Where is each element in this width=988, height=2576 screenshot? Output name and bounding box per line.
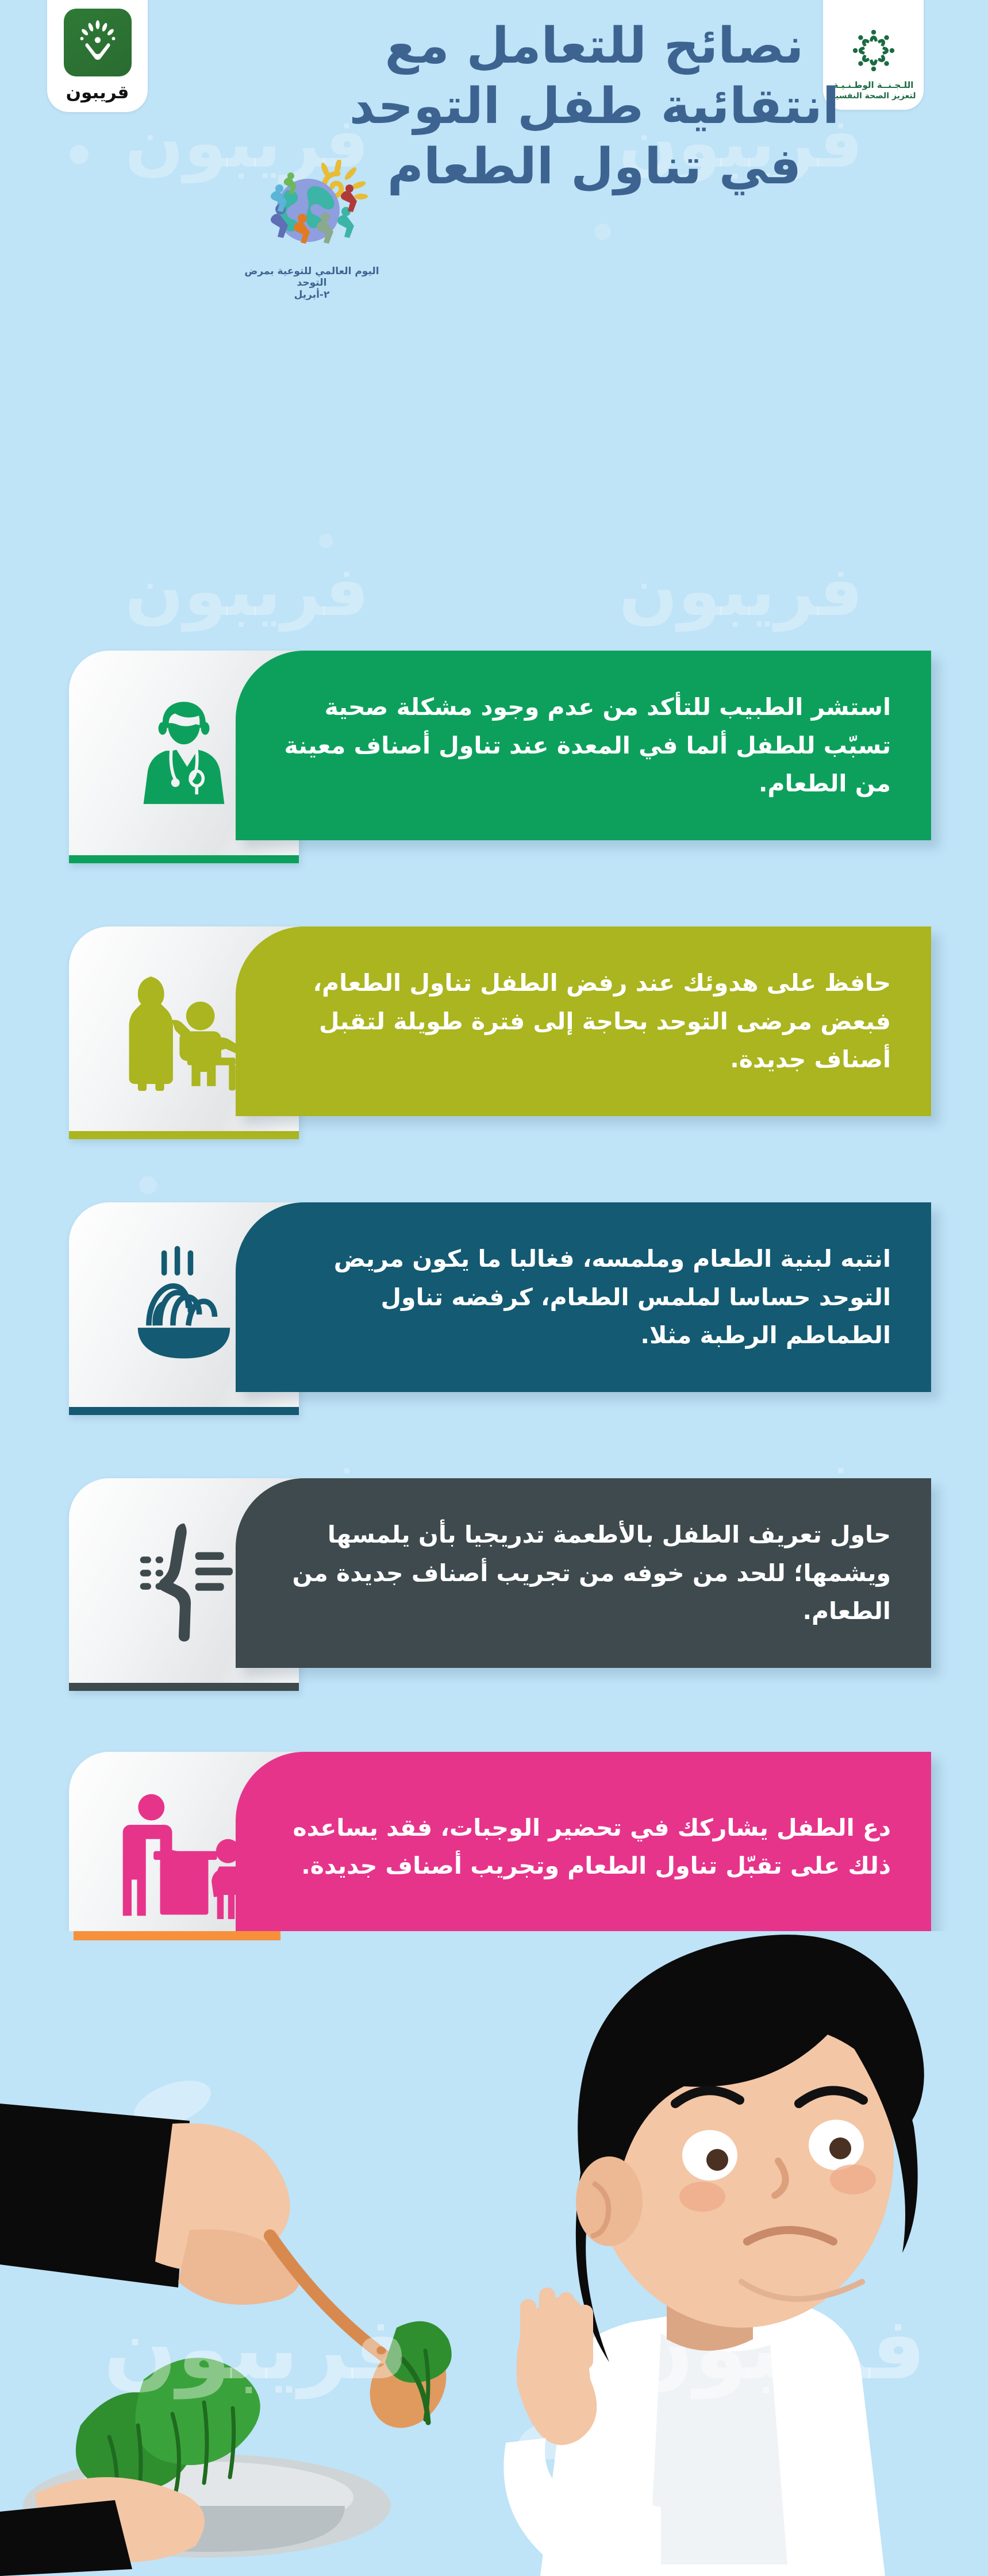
child-refusing-broccoli-illustration: فريبون فريبون bbox=[0, 1931, 988, 2576]
page-header: اللـجـنــة الوطـنـيـة لتعزيز الصحة النفس… bbox=[0, 0, 988, 322]
tip-card-3-accent-bar bbox=[69, 1407, 299, 1415]
qaribon-name: قريبون bbox=[66, 82, 129, 103]
tip-card-4[interactable]: حاول تعريف الطفل بالأطعمة تدريجيا بأن يل… bbox=[69, 1478, 931, 1691]
background-watermark: فريبونفريبون bbox=[0, 552, 988, 632]
tip-card-1-text: استشر الطبيب للتأكد من عدم وجود مشكلة صح… bbox=[270, 688, 891, 802]
parent-and-child-icon bbox=[118, 957, 250, 1101]
tip-card-1-accent-bar bbox=[69, 855, 299, 863]
infographic-page: فريبونفريبون فريبونفريبون فريبونفريبون ف… bbox=[0, 0, 988, 2576]
tip-card-5-body: دع الطفل يشاركك في تحضير الوجبات، فقد يس… bbox=[236, 1752, 931, 1941]
tip-card-1-body: استشر الطبيب للتأكد من عدم وجود مشكلة صح… bbox=[236, 651, 931, 840]
tip-card-4-accent-bar bbox=[69, 1683, 299, 1691]
world-autism-day-logo: اليوم العالمي للتوعية بمرض التوحد ٢-أبري… bbox=[236, 160, 388, 301]
nose-smell-icon bbox=[118, 1509, 250, 1652]
qaribon-logo: قريبون bbox=[47, 0, 148, 112]
tip-card-4-body: حاول تعريف الطفل بالأطعمة تدريجيا بأن يل… bbox=[236, 1478, 931, 1668]
tip-card-2-body: حافظ على هدوئك عند رفض الطفل تناول الطعا… bbox=[236, 926, 931, 1116]
page-title-line-2: انتقائية طفل التوحد bbox=[261, 76, 928, 137]
tip-card-1[interactable]: استشر الطبيب للتأكد من عدم وجود مشكلة صح… bbox=[69, 651, 931, 863]
tip-card-2[interactable]: حافظ على هدوئك عند رفض الطفل تناول الطعا… bbox=[69, 926, 931, 1139]
page-title-line-1: نصائح للتعامل مع bbox=[261, 16, 928, 76]
tip-card-2-text: حافظ على هدوئك عند رفض الطفل تناول الطعا… bbox=[270, 964, 891, 1078]
autism-day-line-1: اليوم العالمي للتوعية بمرض التوحد bbox=[236, 266, 388, 289]
globe-with-children-icon bbox=[252, 160, 372, 263]
tip-card-3-text: انتبه لبنية الطعام وملمسه، فغالبا ما يكو… bbox=[270, 1240, 891, 1354]
qaribon-tile bbox=[64, 9, 132, 76]
cooking-together-icon bbox=[118, 1782, 250, 1926]
tip-card-5-text: دع الطفل يشاركك في تحضير الوجبات، فقد يس… bbox=[270, 1809, 891, 1885]
tip-card-3[interactable]: انتبه لبنية الطعام وملمسه، فغالبا ما يكو… bbox=[69, 1202, 931, 1415]
tip-card-3-body: انتبه لبنية الطعام وملمسه، فغالبا ما يكو… bbox=[236, 1202, 931, 1392]
autism-day-line-2: ٢-أبريل bbox=[236, 289, 388, 301]
tip-card-4-text: حاول تعريف الطفل بالأطعمة تدريجيا بأن يل… bbox=[270, 1516, 891, 1630]
doctor-icon bbox=[118, 681, 250, 825]
person-raising-hands-icon bbox=[73, 18, 122, 67]
noodle-bowl-icon bbox=[118, 1233, 250, 1377]
tip-card-2-accent-bar bbox=[69, 1131, 299, 1139]
